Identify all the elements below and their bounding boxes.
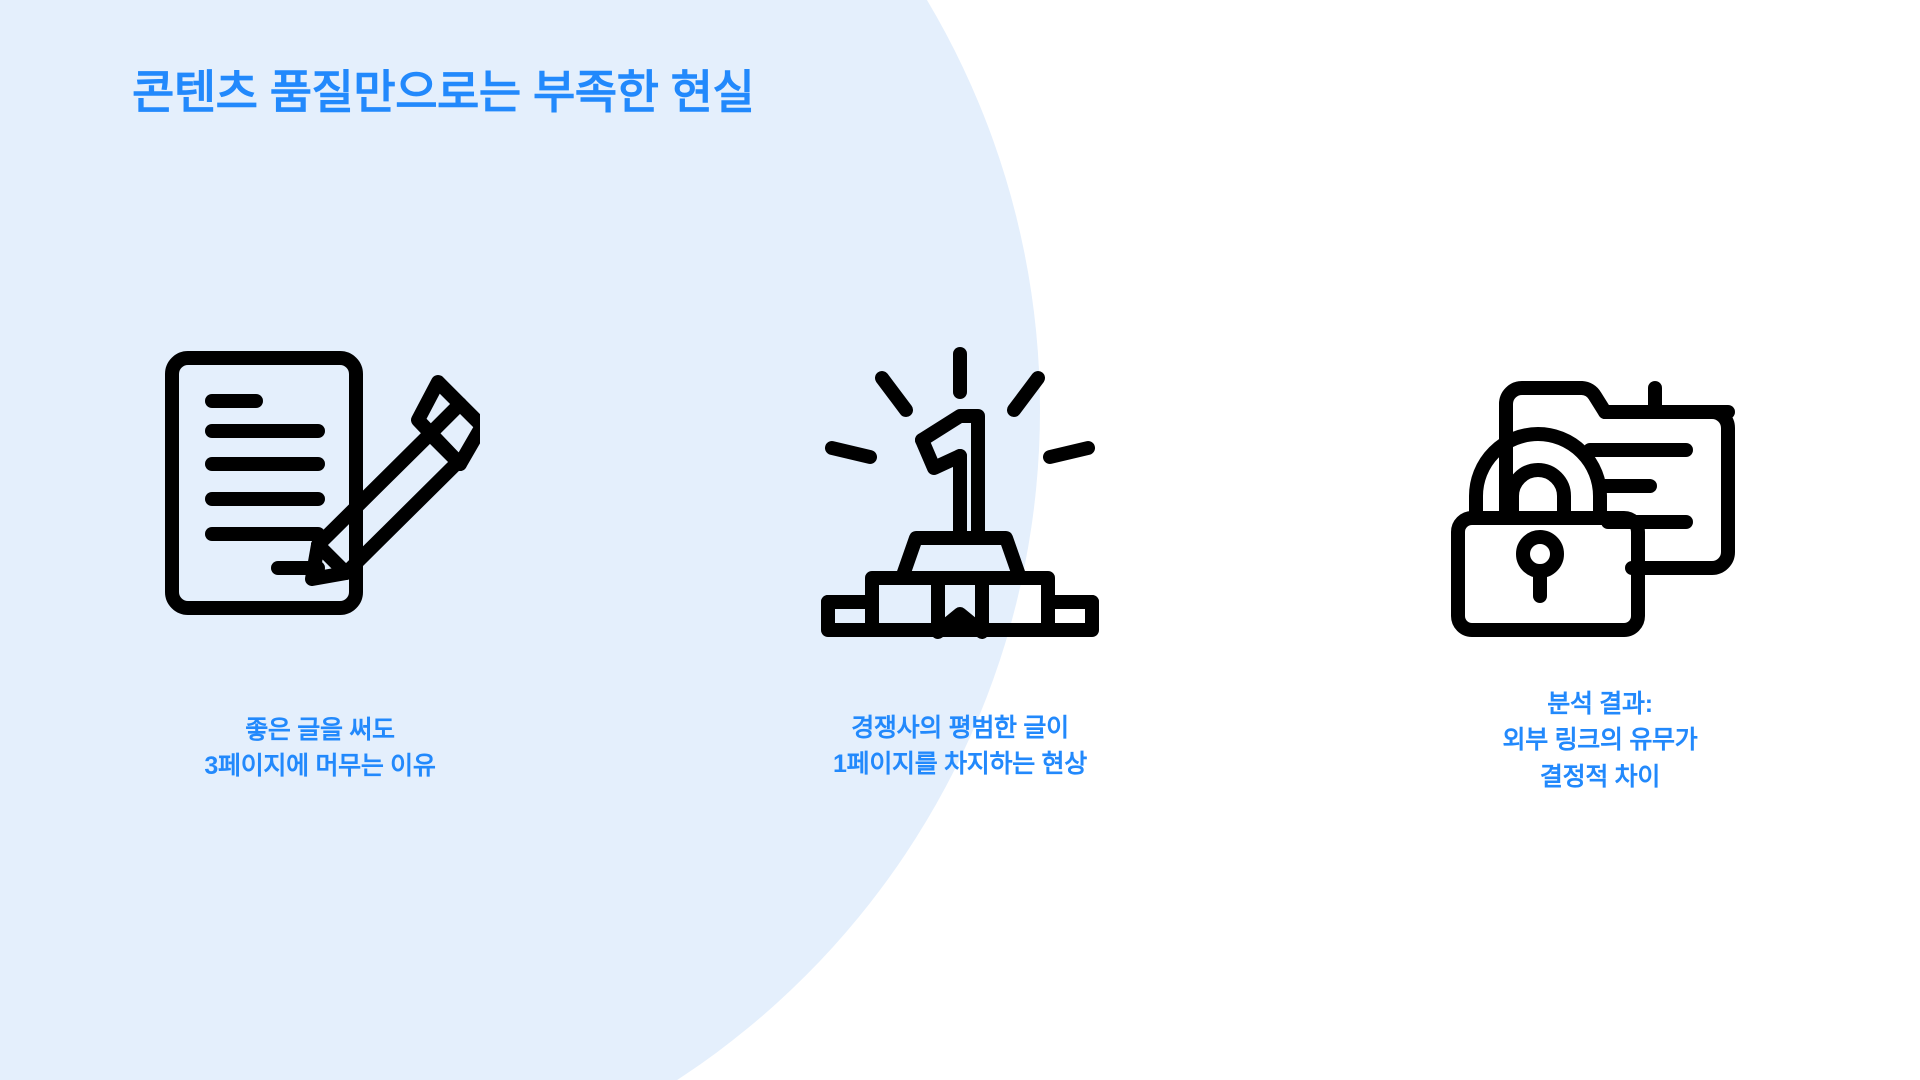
locked-webpage-icon [1440, 330, 1760, 650]
panel-caption: 좋은 글을 써도 3페이지에 머무는 이유 [204, 712, 435, 785]
panel-item: 좋은 글을 써도 3페이지에 머무는 이유 [60, 330, 580, 785]
page-title: 콘텐츠 품질만으로는 부족한 현실 [132, 64, 754, 122]
panel-item: 분석 결과: 외부 링크의 유무가 결정적 차이 [1340, 330, 1860, 795]
panel-item: 경쟁사의 평범한 글이 1페이지를 차지하는 현상 [700, 330, 1220, 783]
first-place-podium-icon [800, 334, 1120, 654]
document-with-pencil-icon [160, 336, 480, 656]
slide-canvas: 콘텐츠 품질만으로는 부족한 현실 [0, 0, 1920, 1080]
panel-row: 좋은 글을 써도 3페이지에 머무는 이유 [0, 330, 1920, 930]
panel-caption: 경쟁사의 평범한 글이 1페이지를 차지하는 현상 [833, 710, 1087, 783]
panel-caption: 분석 결과: 외부 링크의 유무가 결정적 차이 [1503, 686, 1698, 795]
